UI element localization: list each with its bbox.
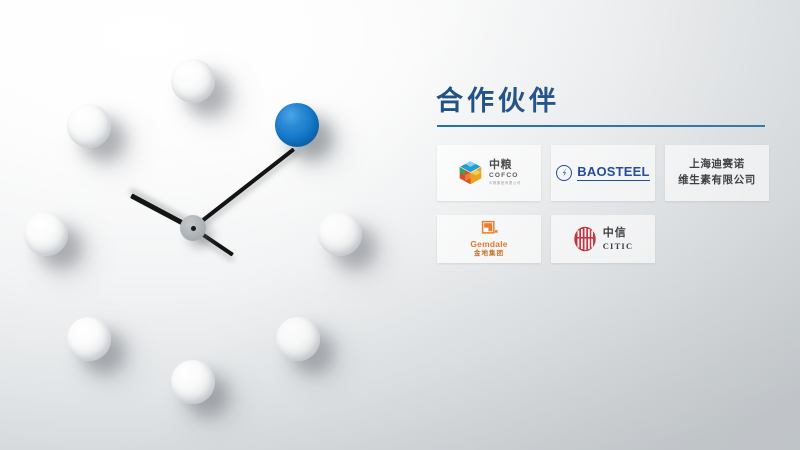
gemdale-logo: Gemdale 金地集团 — [470, 220, 507, 257]
citic-logo: 中信 CITIC — [573, 226, 634, 252]
clock-minute-hand — [192, 148, 295, 230]
cofco-name-en: COFCO — [489, 173, 518, 180]
citic-name-en: CITIC — [603, 242, 634, 251]
clock-marker-10 — [67, 104, 111, 148]
slide-canvas: 合作伙伴 — [0, 0, 800, 450]
gemdale-name-en: Gemdale — [470, 240, 507, 249]
partners-panel: 合作伙伴 — [425, 85, 775, 263]
title-underline — [437, 125, 765, 127]
partner-card-cofco[interactable]: 中粮 COFCO 中粮集团有限公司 — [437, 145, 541, 201]
cofco-wordmark: 中粮 COFCO 中粮集团有限公司 — [489, 160, 521, 185]
cofco-logo: 中粮 COFCO 中粮集团有限公司 — [457, 159, 521, 186]
partner-card-baosteel[interactable]: BAOSTEEL — [551, 145, 655, 201]
clock-marker-1-highlight — [275, 103, 319, 147]
baosteel-logo: BAOSTEEL — [556, 164, 649, 181]
partner-card-disinuo[interactable]: 上海迪赛诺 维生素有限公司 — [665, 145, 769, 201]
baosteel-bolt-icon — [556, 165, 572, 181]
clock-marker-6 — [171, 360, 215, 404]
partner-card-gemdale[interactable]: Gemdale 金地集团 — [437, 215, 541, 263]
clock-center-hub — [180, 215, 206, 241]
baosteel-name-en: BAOSTEEL — [577, 164, 649, 181]
clock-marker-7 — [67, 317, 111, 361]
disinuo-line-2: 维生素有限公司 — [678, 173, 756, 189]
clock-marker-3 — [318, 212, 362, 256]
partner-logo-grid: 中粮 COFCO 中粮集团有限公司 BAOSTEEL 上海迪赛诺 维生素有限公司 — [437, 145, 775, 263]
partner-card-empty-slot — [665, 215, 769, 263]
wall-clock-graphic — [0, 0, 400, 450]
clock-marker-9 — [24, 212, 68, 256]
gemdale-name-cn: 金地集团 — [474, 251, 504, 258]
citic-seal-icon — [573, 226, 597, 252]
page-title: 合作伙伴 — [425, 85, 775, 119]
cofco-name-cn: 中粮 — [489, 160, 512, 171]
cofco-tagline: 中粮集团有限公司 — [489, 182, 521, 185]
disinuo-line-1: 上海迪赛诺 — [678, 157, 756, 173]
clock-marker-12 — [171, 59, 215, 103]
citic-wordmark: 中信 CITIC — [603, 228, 634, 251]
citic-name-cn: 中信 — [603, 228, 627, 239]
partner-card-citic[interactable]: 中信 CITIC — [551, 215, 655, 263]
gemdale-square-icon — [481, 220, 498, 237]
clock-marker-4 — [276, 317, 320, 361]
clock-center-pin — [191, 226, 196, 231]
cofco-cube-icon — [457, 159, 484, 186]
disinuo-logo: 上海迪赛诺 维生素有限公司 — [678, 157, 756, 189]
